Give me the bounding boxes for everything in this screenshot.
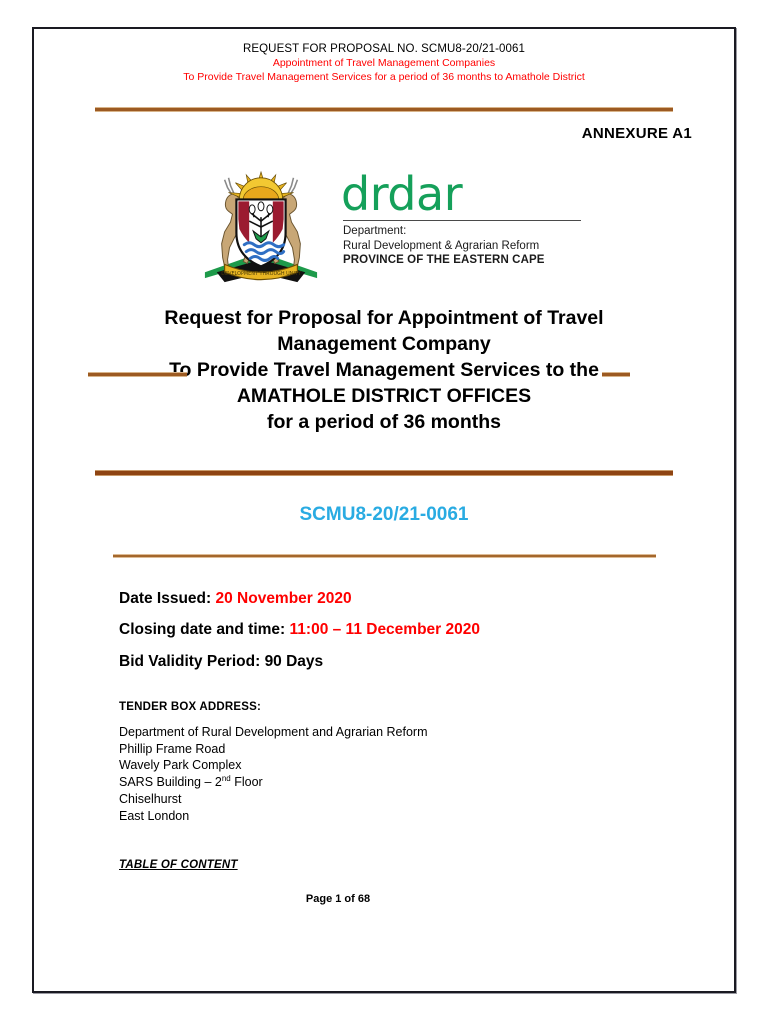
date-row-closing: Closing date and time: 11:00 – 11 Decemb… [119,621,734,639]
title-line-1: Request for Proposal for Appointment of … [88,306,680,332]
drdar-brand-block: drdar Department: Rural Development & Ag… [341,166,581,268]
address-line-4-suffix: Floor [231,775,263,789]
divider-mid [95,470,673,476]
divider-logo-right [602,372,630,377]
page-title: Request for Proposal for Appointment of … [34,306,734,436]
title-line-2: Management Company [88,332,680,358]
logo-zone: DEVELOPMENT THROUGH UNITY drdar Departme… [34,166,734,294]
table-of-content-heading: TABLE OF CONTENT [34,859,734,871]
key-dates-block: Date Issued: 20 November 2020 Closing da… [34,590,734,671]
title-line-5: for a period of 36 months [88,410,680,436]
address-line-6: East London [119,808,734,825]
header-subtitle-1: Appointment of Travel Management Compani… [34,57,734,71]
department-line-3: PROVINCE OF THE EASTERN CAPE [343,253,581,268]
divider-below-reference [113,554,656,558]
date-issued-value: 20 November 2020 [215,590,351,607]
address-line-2: Phillip Frame Road [119,741,734,758]
closing-date-value: 11:00 – 11 December 2020 [290,621,480,638]
tender-box-address: Department of Rural Development and Agra… [34,724,734,825]
address-line-3: Wavely Park Complex [119,757,734,774]
svg-text:DEVELOPMENT THROUGH UNITY: DEVELOPMENT THROUGH UNITY [221,271,301,277]
reference-number: SCMU8-20/21-0061 [34,504,734,526]
page-footer: Page 1 of 68 [34,893,734,905]
address-line-5: Chiselhurst [119,791,734,808]
title-line-4: AMATHOLE DISTRICT OFFICES [88,384,680,410]
header-rfp-number: REQUEST FOR PROPOSAL NO. SCMU8-20/21-006… [34,42,734,57]
annexure-label: ANNEXURE A1 [34,112,734,142]
document-page: REQUEST FOR PROPOSAL NO. SCMU8-20/21-006… [32,27,736,993]
date-issued-label: Date Issued: [119,590,211,607]
date-row-validity: Bid Validity Period: 90 Days [119,653,734,671]
title-line-3: To Provide Travel Management Services to… [88,358,680,384]
department-line-1: Department: [343,224,581,239]
date-row-issued: Date Issued: 20 November 2020 [119,590,734,608]
document-running-header: REQUEST FOR PROPOSAL NO. SCMU8-20/21-006… [34,29,734,85]
bid-validity-label: Bid Validity Period: [119,653,260,670]
department-line-2: Rural Development & Agrarian Reform [343,239,581,254]
address-line-4-prefix: SARS Building – 2 [119,775,222,789]
header-subtitle-2: To Provide Travel Management Services fo… [34,71,734,85]
address-line-1: Department of Rural Development and Agra… [119,724,734,741]
tender-box-heading: TENDER BOX ADDRESS: [34,701,734,713]
address-line-4-ordinal: nd [222,774,231,783]
eastern-cape-coat-of-arms-icon: DEVELOPMENT THROUGH UNITY [187,166,335,288]
drdar-wordmark: drdar [341,172,581,216]
address-line-4: SARS Building – 2nd Floor [119,774,734,791]
divider-logo-left [88,372,187,377]
closing-date-label: Closing date and time: [119,621,285,638]
bid-validity-value: 90 Days [265,653,324,670]
